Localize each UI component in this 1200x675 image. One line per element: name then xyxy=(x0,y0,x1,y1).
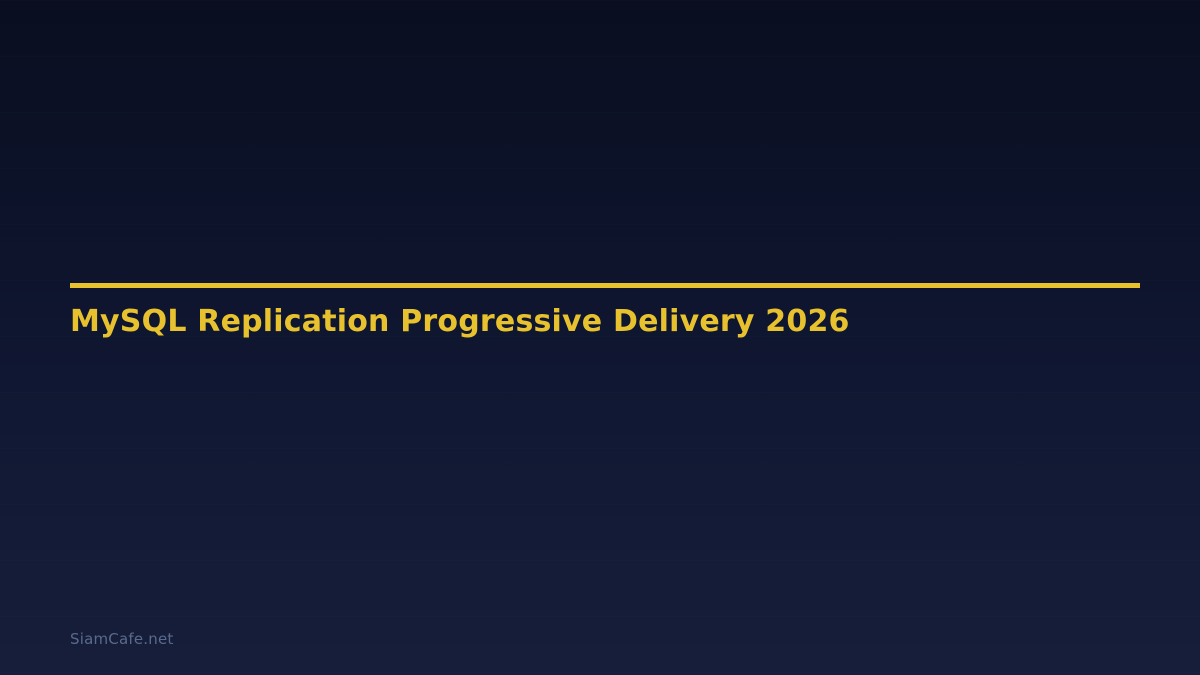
title-block: MySQL Replication Progressive Delivery 2… xyxy=(70,283,1140,340)
page-title: MySQL Replication Progressive Delivery 2… xyxy=(70,288,1140,340)
presentation-slide: MySQL Replication Progressive Delivery 2… xyxy=(0,0,1200,675)
slide-footer: SiamCafe.net xyxy=(70,629,173,648)
footer-brand-label: SiamCafe.net xyxy=(70,630,173,648)
